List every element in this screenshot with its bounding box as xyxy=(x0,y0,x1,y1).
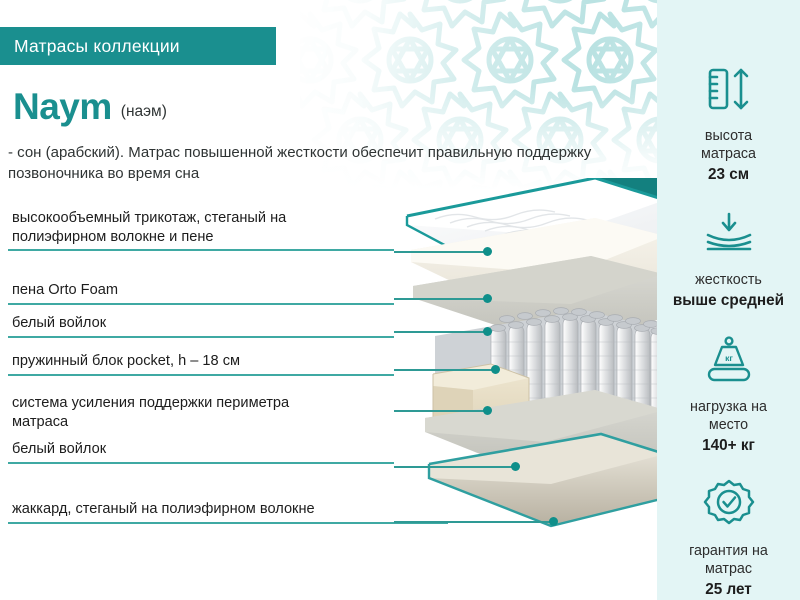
badge-check-icon xyxy=(657,473,800,535)
brand-block: Naym (наэм) xyxy=(13,88,167,125)
spec-height-label: высота матраса xyxy=(657,127,800,163)
layer-callout-felt-top: белый войлок xyxy=(8,314,394,338)
spec-firmness-label: жесткость xyxy=(657,271,800,289)
layer-rule-felt-top xyxy=(8,336,394,338)
spec-firmness-value: выше средней xyxy=(657,291,800,310)
layer-callout-knit: высокообъемный трикотаж, стеганый на пол… xyxy=(8,209,394,251)
layer-rule-knit xyxy=(8,249,394,251)
layer-rule-felt-bottom xyxy=(8,462,394,464)
layer-point-jacquard xyxy=(549,517,558,526)
spec-firmness: жесткость выше средней xyxy=(657,202,800,310)
specs-sidebar: высота матраса 23 см жесткость выше сред… xyxy=(657,0,800,600)
layer-label-knit: высокообъемный трикотаж, стеганый на пол… xyxy=(8,209,394,246)
layer-label-perimeter: система усиления поддержки периметра мат… xyxy=(8,394,394,431)
layer-callout-perimeter: система усиления поддержки периметра мат… xyxy=(8,394,394,431)
spec-load: кг нагрузка на место 140+ кг xyxy=(657,329,800,455)
layer-callout-felt-bottom: белый войлок xyxy=(8,440,394,464)
layer-point-orto-foam xyxy=(483,294,492,303)
layer-leader-knit xyxy=(394,251,486,253)
layer-label-felt-top: белый войлок xyxy=(8,314,394,333)
layer-leader-jacquard xyxy=(394,521,552,523)
collection-banner-label: Матрасы коллекции xyxy=(0,36,180,57)
layer-rule-orto-foam xyxy=(8,303,394,305)
layer-rule-jacquard xyxy=(8,522,448,524)
layer-label-pocket: пружинный блок pocket, h – 18 см xyxy=(8,352,394,371)
layer-point-knit xyxy=(483,247,492,256)
layer-leader-perimeter xyxy=(394,410,486,412)
layer-leader-felt-top xyxy=(394,331,486,333)
layer-leader-felt-bottom xyxy=(394,466,514,468)
ruler-arrow-icon xyxy=(657,58,800,120)
layer-label-jacquard: жаккард, стеганый на полиэфирном волокне xyxy=(8,500,448,519)
layer-callout-pocket: пружинный блок pocket, h – 18 см xyxy=(8,352,394,376)
spec-guarantee-value: 25 лет xyxy=(657,580,800,599)
spec-load-value: 140+ кг xyxy=(657,436,800,455)
product-infographic: Матрасы коллекции Naym (наэм) - сон (ара… xyxy=(0,0,800,600)
layer-point-felt-bottom xyxy=(511,462,520,471)
spec-load-label: нагрузка на место xyxy=(657,398,800,434)
brand-transliteration: (наэм) xyxy=(121,103,167,121)
layer-label-felt-bottom: белый войлок xyxy=(8,440,394,459)
svg-text:кг: кг xyxy=(725,353,733,363)
layer-leader-pocket xyxy=(394,369,494,371)
layer-point-perimeter xyxy=(483,406,492,415)
layer-point-pocket xyxy=(491,365,500,374)
brand-name: Naym xyxy=(13,88,112,125)
layer-rule-pocket xyxy=(8,374,394,376)
layer-callout-orto-foam: пена Orto Foam xyxy=(8,281,394,305)
weight-kg-icon: кг xyxy=(657,329,800,391)
layer-callout-jacquard: жаккард, стеганый на полиэфирном волокне xyxy=(8,500,448,524)
spec-guarantee-label: гарантия на матрас xyxy=(657,542,800,578)
spec-height: высота матраса 23 см xyxy=(657,58,800,184)
pressure-waves-icon xyxy=(657,202,800,264)
collection-banner: Матрасы коллекции xyxy=(0,27,276,65)
layer-leader-orto-foam xyxy=(394,298,486,300)
spec-guarantee: гарантия на матрас 25 лет xyxy=(657,473,800,599)
spec-height-value: 23 см xyxy=(657,165,800,184)
layer-point-felt-top xyxy=(483,327,492,336)
layer-label-orto-foam: пена Orto Foam xyxy=(8,281,394,300)
